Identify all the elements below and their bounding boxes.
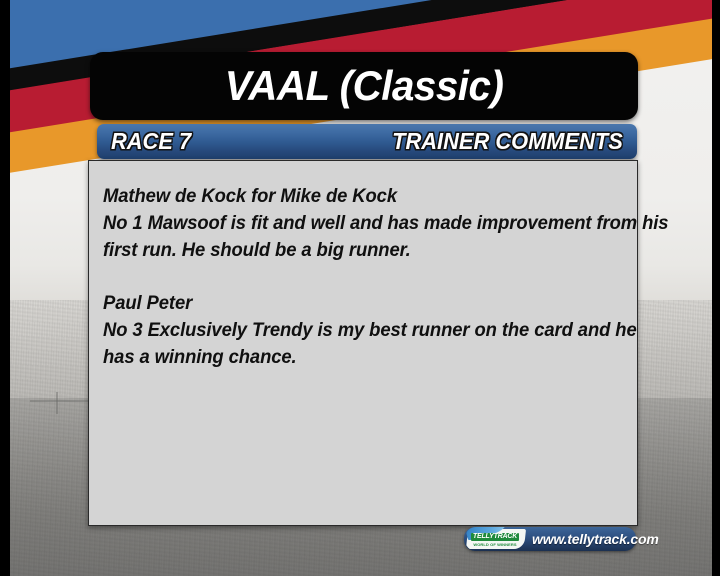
comment-text-line: No 1 Mawsoof is fit and well and has mad… [103,210,607,237]
broadcast-graphic-screen: VAAL (Classic) RACE 7 TRAINER COMMENTS M… [0,0,720,576]
comment-text-line: No 3 Exclusively Trendy is my best runne… [103,317,607,344]
tellytrack-logo-icon: TELLYTRACK WORLD OF WINNERS [465,527,527,551]
website-url-label: www.tellytrack.com [532,531,659,547]
comment-block: Paul Peter No 3 Exclusively Trendy is my… [103,290,623,371]
race-number-label: RACE 7 [111,128,191,155]
race-header-bar: RACE 7 TRAINER COMMENTS [97,124,637,159]
letterbox-bar-left [0,0,10,576]
tellytrack-footer-bar: TELLYTRACK WORLD OF WINNERS www.tellytra… [464,527,636,551]
section-title-label: TRAINER COMMENTS [392,128,623,155]
background-track-post [56,392,58,414]
logo-tagline-text: WORLD OF WINNERS [471,542,519,547]
letterbox-bar-right [712,0,720,576]
comment-text-line: has a winning chance. [103,344,607,371]
trainer-name: Mathew de Kock for Mike de Kock [103,183,607,210]
trainer-comments-panel: Mathew de Kock for Mike de Kock No 1 Maw… [88,160,638,526]
trainer-name: Paul Peter [103,290,607,317]
comment-text-line: first run. He should be a big runner. [103,237,607,264]
logo-wordmark-text: TELLYTRACK [471,533,519,541]
comment-block: Mathew de Kock for Mike de Kock No 1 Maw… [103,183,623,264]
venue-title-plate: VAAL (Classic) [90,52,638,120]
venue-title: VAAL (Classic) [225,65,504,107]
